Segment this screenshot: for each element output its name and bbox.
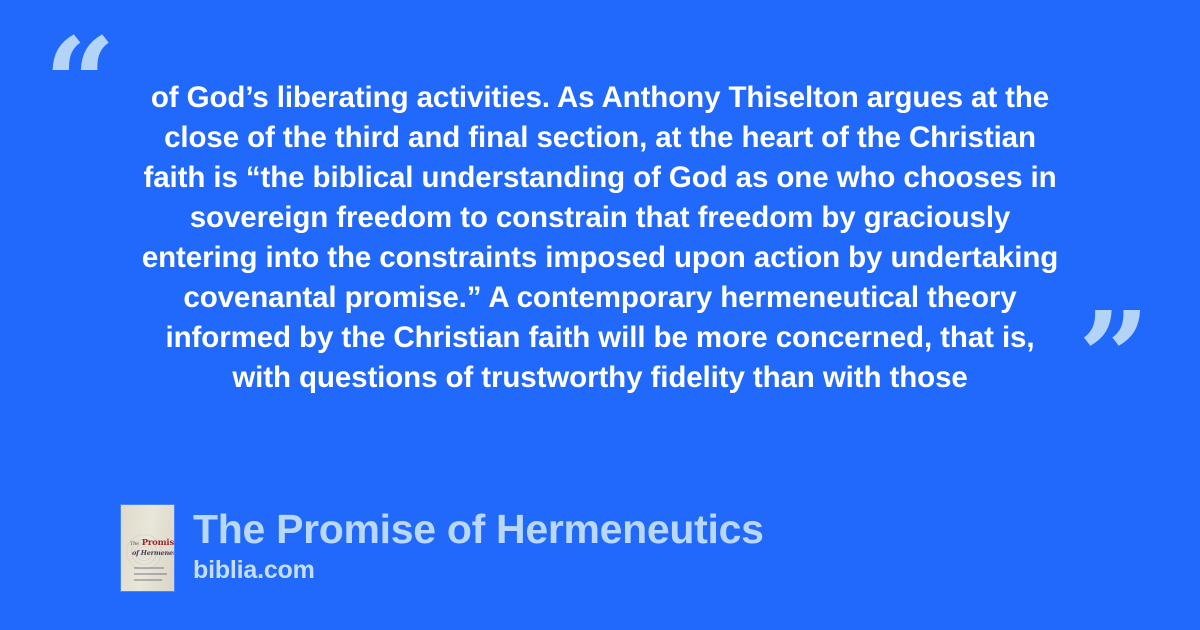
cover-author-line bbox=[134, 579, 162, 581]
attribution-text-group: The Promise of Hermeneutics biblia.com bbox=[193, 505, 764, 584]
cover-author-line bbox=[134, 567, 164, 569]
cover-author-line bbox=[134, 573, 167, 575]
cover-title-primary: The Promise bbox=[130, 538, 174, 548]
cover-title-secondary: of Hermeneutics bbox=[132, 549, 174, 557]
quote-line: sovereign freedom to constrain that free… bbox=[110, 198, 1090, 238]
quote-line: of God’s liberating activities. As Antho… bbox=[110, 78, 1090, 118]
cover-title-article: The bbox=[130, 541, 139, 547]
site-name: biblia.com bbox=[193, 556, 764, 584]
quote-line: entering into the constraints imposed up… bbox=[110, 238, 1090, 278]
quote-line: close of the third and final section, at… bbox=[110, 118, 1090, 158]
book-cover-thumbnail: The Promise of Hermeneutics bbox=[121, 505, 174, 591]
book-title: The Promise of Hermeneutics bbox=[193, 506, 764, 552]
cover-author-lines bbox=[134, 567, 168, 585]
quote-line: faith is “the biblical understanding of … bbox=[110, 158, 1090, 198]
quote-card: “ ” of God’s liberating activities. As A… bbox=[0, 0, 1200, 630]
source-attribution: The Promise of Hermeneutics The Promise … bbox=[121, 505, 764, 591]
quote-line: with questions of trustworthy fidelity t… bbox=[110, 358, 1090, 398]
cover-title-main: Promise bbox=[142, 538, 174, 548]
opening-quote-icon: “ bbox=[44, 22, 113, 147]
quote-line: covenantal promise.” A contemporary herm… bbox=[110, 278, 1090, 318]
quote-body: of God’s liberating activities. As Antho… bbox=[110, 78, 1090, 398]
quote-line: informed by the Christian faith will be … bbox=[110, 318, 1090, 358]
